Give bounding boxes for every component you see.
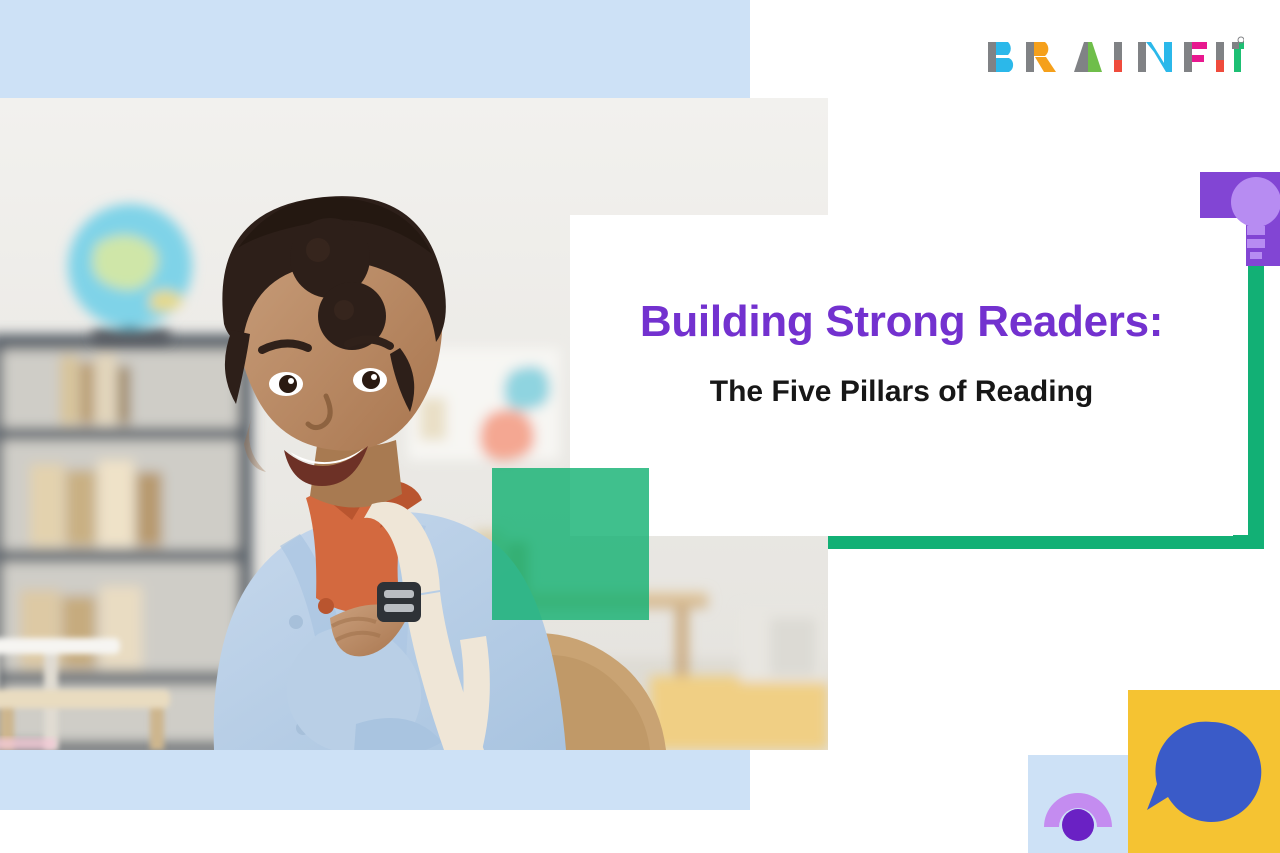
decorative-band-bottom xyxy=(0,750,750,810)
page-title: Building Strong Readers: xyxy=(640,299,1163,345)
brainfit-logo[interactable] xyxy=(988,36,1244,78)
speech-bubble-tile xyxy=(1128,690,1280,853)
slide-canvas: Building Strong Readers: The Five Pillar… xyxy=(0,0,1280,853)
page-subtitle: The Five Pillars of Reading xyxy=(710,375,1093,409)
green-accent-square xyxy=(492,468,649,620)
title-card: Building Strong Readers: The Five Pillar… xyxy=(570,215,1233,536)
lightbulb-tile xyxy=(1200,172,1280,266)
rainbow-arc-tile xyxy=(1028,755,1128,853)
green-frame-bottom xyxy=(828,535,1264,549)
decorative-band-top xyxy=(0,0,750,98)
